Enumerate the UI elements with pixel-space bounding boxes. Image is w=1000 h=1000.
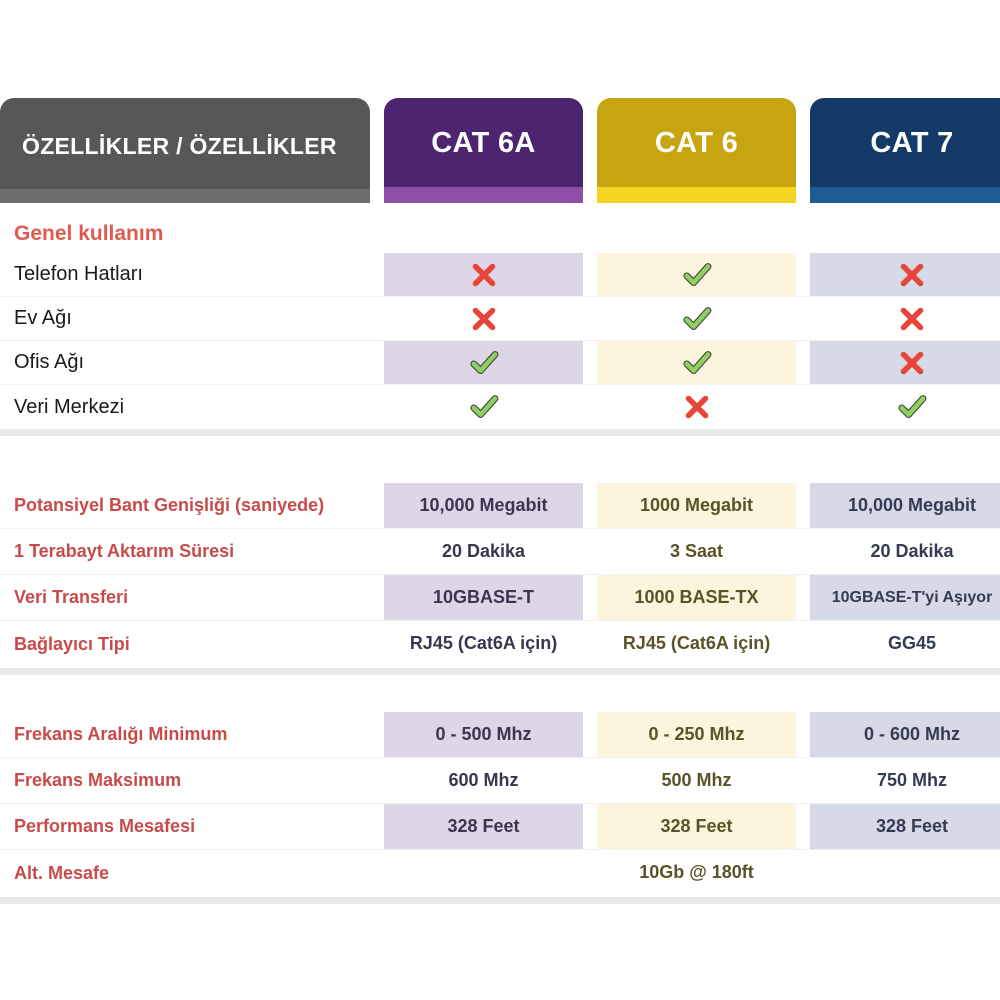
cell-cat6a: 20 Dakika xyxy=(384,529,583,574)
header-accent-cat7 xyxy=(810,187,1000,203)
row-label: Ev Ağı xyxy=(0,297,370,340)
row-label: Frekans Maksimum xyxy=(0,758,370,803)
row-label: Bağlayıcı Tipi xyxy=(0,621,370,667)
section-divider xyxy=(0,897,1000,904)
cross-icon xyxy=(895,258,929,292)
cell-cat6a: 600 Mhz xyxy=(384,758,583,803)
cell-cat6: 500 Mhz xyxy=(597,758,796,803)
cell-cat7: 10,000 Megabit xyxy=(810,483,1000,528)
cross-icon xyxy=(895,346,929,380)
check-icon xyxy=(680,346,714,380)
table-row: Alt. Mesafe 10Gb @ 180ft xyxy=(0,850,1000,896)
row-label: Veri Merkezi xyxy=(0,385,370,429)
cell-cat6a xyxy=(384,850,583,896)
header-cell-cat6a: CAT 6A xyxy=(384,98,583,203)
table-row: Veri Transferi 10GBASE-T 1000 BASE-TX 10… xyxy=(0,575,1000,621)
cell-cat6: 1000 BASE-TX xyxy=(597,575,796,620)
section-caption-row: Genel kullanım xyxy=(0,215,1000,253)
header-accent-cat6a xyxy=(384,187,583,203)
header-gap-3 xyxy=(796,98,810,203)
row-label: Ofis Ağı xyxy=(0,341,370,384)
cell-cat6a xyxy=(384,297,583,340)
header-gap-2 xyxy=(583,98,597,203)
header-label-cat6a: CAT 6A xyxy=(384,127,583,174)
cell-cat6: 10Gb @ 180ft xyxy=(597,850,796,896)
cell-cat6 xyxy=(597,341,796,384)
row-label: 1 Terabayt Aktarım Süresi xyxy=(0,529,370,574)
section-caption-general: Genel kullanım xyxy=(0,215,370,253)
cell-cat6a xyxy=(384,385,583,429)
header-cell-features: ÖZELLİKLER / ÖZELLİKLER xyxy=(0,98,370,203)
cell-cat7: 328 Feet xyxy=(810,804,1000,849)
table-row: Frekans Aralığı Minimum 0 - 500 Mhz 0 - … xyxy=(0,712,1000,758)
cell-cat6: 3 Saat xyxy=(597,529,796,574)
table-row: Frekans Maksimum 600 Mhz 500 Mhz 750 Mhz xyxy=(0,758,1000,804)
check-icon xyxy=(467,390,501,424)
table-row: Bağlayıcı Tipi RJ45 (Cat6A için) RJ45 (C… xyxy=(0,621,1000,667)
table-row: Performans Mesafesi 328 Feet 328 Feet 32… xyxy=(0,804,1000,850)
cell-cat7 xyxy=(810,297,1000,340)
cell-cat6: 0 - 250 Mhz xyxy=(597,712,796,757)
header-label-cat6: CAT 6 xyxy=(597,127,796,174)
cell-cat6a xyxy=(384,253,583,296)
cell-cat6 xyxy=(597,253,796,296)
table-row: Ofis Ağı xyxy=(0,341,1000,385)
table-header: ÖZELLİKLER / ÖZELLİKLER CAT 6A CAT 6 CAT… xyxy=(0,98,1000,203)
row-label: Frekans Aralığı Minimum xyxy=(0,712,370,757)
section-divider xyxy=(0,429,1000,436)
cell-cat6: 1000 Megabit xyxy=(597,483,796,528)
check-icon xyxy=(895,390,929,424)
section-frequency: Frekans Aralığı Minimum 0 - 500 Mhz 0 - … xyxy=(0,712,1000,896)
cell-cat6 xyxy=(597,297,796,340)
table-row: Ev Ağı xyxy=(0,297,1000,341)
cell-cat7 xyxy=(810,341,1000,384)
header-cell-cat7: CAT 7 xyxy=(810,98,1000,203)
header-accent-cat6 xyxy=(597,187,796,203)
table-row: 1 Terabayt Aktarım Süresi 20 Dakika 3 Sa… xyxy=(0,529,1000,575)
comparison-table-page: ÖZELLİKLER / ÖZELLİKLER CAT 6A CAT 6 CAT… xyxy=(0,0,1000,1000)
cell-cat6: RJ45 (Cat6A için) xyxy=(597,621,796,667)
cell-cat6 xyxy=(597,385,796,429)
cross-icon xyxy=(680,390,714,424)
cell-cat6a: 10GBASE-T xyxy=(384,575,583,620)
cross-icon xyxy=(895,302,929,336)
cross-icon xyxy=(467,302,501,336)
cell-cat6a xyxy=(384,341,583,384)
cell-cat6a: 328 Feet xyxy=(384,804,583,849)
cell-cat6a: 0 - 500 Mhz xyxy=(384,712,583,757)
cell-cat7: 20 Dakika xyxy=(810,529,1000,574)
cell-cat6: 328 Feet xyxy=(597,804,796,849)
row-label: Performans Mesafesi xyxy=(0,804,370,849)
cell-cat6a: RJ45 (Cat6A için) xyxy=(384,621,583,667)
cell-cat7 xyxy=(810,253,1000,296)
check-icon xyxy=(467,346,501,380)
cross-icon xyxy=(467,258,501,292)
check-icon xyxy=(680,302,714,336)
cell-cat7: GG45 xyxy=(810,621,1000,667)
cell-cat7: 750 Mhz xyxy=(810,758,1000,803)
cell-cat7: 10GBASE-T'yi Aşıyor xyxy=(810,575,1000,620)
table-row: Potansiyel Bant Genişliği (saniyede) 10,… xyxy=(0,483,1000,529)
check-icon xyxy=(680,258,714,292)
row-label: Telefon Hatları xyxy=(0,253,370,296)
row-label: Potansiyel Bant Genişliği (saniyede) xyxy=(0,483,370,528)
row-label: Alt. Mesafe xyxy=(0,850,370,896)
header-gap-1 xyxy=(370,98,384,203)
header-label-features: ÖZELLİKLER / ÖZELLİKLER xyxy=(0,133,370,168)
section-general-usage: Genel kullanım Telefon Hatları xyxy=(0,215,1000,429)
header-label-cat7: CAT 7 xyxy=(810,127,1000,174)
cell-cat7 xyxy=(810,850,1000,896)
section-divider xyxy=(0,668,1000,675)
cell-cat6a: 10,000 Megabit xyxy=(384,483,583,528)
header-cell-cat6: CAT 6 xyxy=(597,98,796,203)
cell-cat7 xyxy=(810,385,1000,429)
section-bandwidth: Potansiyel Bant Genişliği (saniyede) 10,… xyxy=(0,483,1000,667)
table-row: Telefon Hatları xyxy=(0,253,1000,297)
cell-cat7: 0 - 600 Mhz xyxy=(810,712,1000,757)
row-label: Veri Transferi xyxy=(0,575,370,620)
header-accent-features xyxy=(0,189,370,203)
table-row: Veri Merkezi xyxy=(0,385,1000,429)
